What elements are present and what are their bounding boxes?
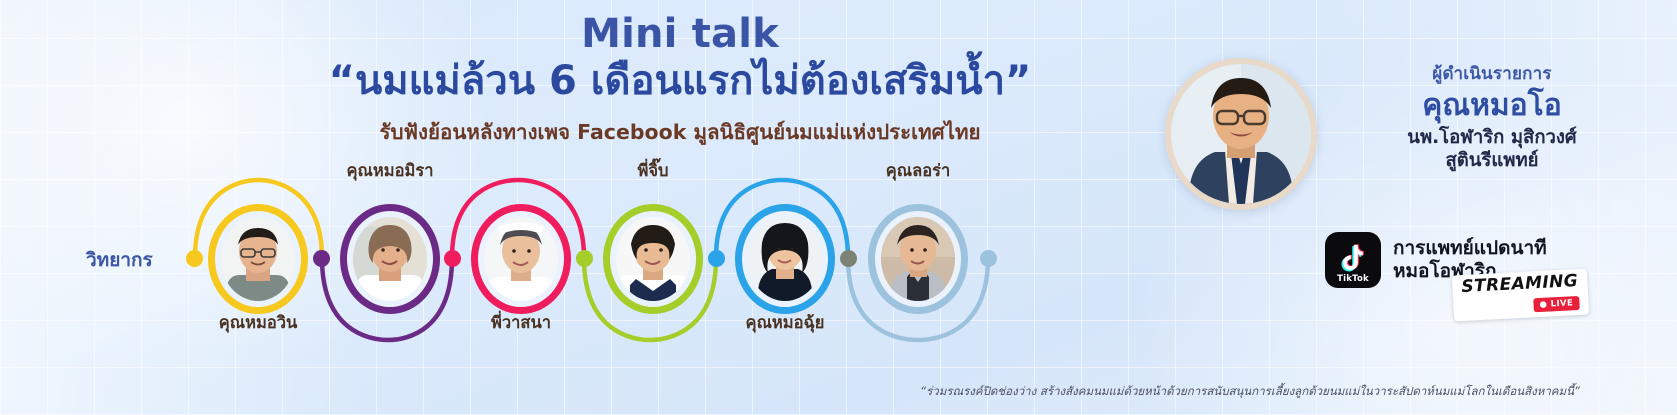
speaker-timeline: คุณหมอวิน คุณหมอมิรา [0,170,1120,370]
replay-note: รับฟังย้อนหลังทางเพจ Facebook มูลนิธิศูน… [250,116,1110,149]
timeline-dot-4 [576,250,593,267]
speaker-name-4: พี่จิ๊บ [608,158,698,184]
title-quote: “นมแม่ล้วน 6 เดือนแรกไม่ต้องเสริมน้ำ” [250,59,1110,104]
timeline-dot-2 [313,250,330,267]
timeline-dot-7 [980,250,997,267]
speaker-name-2: คุณหมอมิรา [326,158,454,184]
mini-talk-banner: Mini talk “นมแม่ล้วน 6 เดือนแรกไม่ต้องเส… [0,0,1677,415]
speaker-avatar-6 [881,217,955,301]
speakers-label: วิทยากร [86,245,153,275]
host-role: ผู้ดำเนินรายการ [1327,60,1657,87]
speaker-avatar-1 [221,217,295,301]
timeline-dot-1 [186,250,203,267]
host-nickname: คุณหมอโอ [1327,89,1657,122]
headline-block: Mini talk “นมแม่ล้วน 6 เดือนแรกไม่ต้องเส… [250,14,1110,149]
timeline-dot-5 [708,250,725,267]
host-photo-image [1171,64,1311,204]
speaker-ring-3 [471,204,571,314]
speaker-ring-1 [208,204,308,314]
timeline-dot-6 [840,250,857,267]
host-specialty: สูตินรีแพทย์ [1327,149,1657,172]
speaker-name-1: คุณหมอวิน [196,310,320,336]
speaker-ring-5 [735,204,835,314]
page-title: Mini talk [250,14,1110,55]
speaker-name-6: คุณลอร่า [862,158,974,184]
speaker-avatar-5 [748,217,822,301]
live-badge: ● LIVE [1533,296,1579,312]
speaker-ring-2 [340,204,440,314]
host-text-block: ผู้ดำเนินรายการ คุณหมอโอ นพ.โอฬาริก มุสิ… [1327,60,1657,172]
timeline-dot-3 [444,250,461,267]
tiktok-icon[interactable]: TikTok [1325,232,1381,288]
host-panel: ผู้ดำเนินรายการ คุณหมอโอ นพ.โอฬาริก มุสิ… [1157,0,1677,415]
speaker-avatar-4 [616,217,690,301]
host-real-name: นพ.โอฬาริก มุสิกวงศ์ [1327,126,1657,149]
tiktok-wordmark: TikTok [1325,274,1381,284]
streaming-badge: STREAMING ● LIVE [1452,269,1589,322]
host-avatar [1165,58,1317,210]
speaker-avatar-2 [353,217,427,301]
tiktok-channel-line1: การแพทย์แปดนาที [1393,237,1547,260]
speaker-ring-4 [603,204,703,314]
speaker-name-3: พี่วาสนา [462,310,580,336]
speaker-ring-6 [868,204,968,314]
speaker-avatar-3 [484,217,558,301]
speaker-name-5: คุณหมอฉุ้ย [722,310,848,336]
campaign-footnote: “ร่วมรณรงค์ปิดช่องว่าง สร้างสังคมนมแม่ด้… [845,383,1655,401]
